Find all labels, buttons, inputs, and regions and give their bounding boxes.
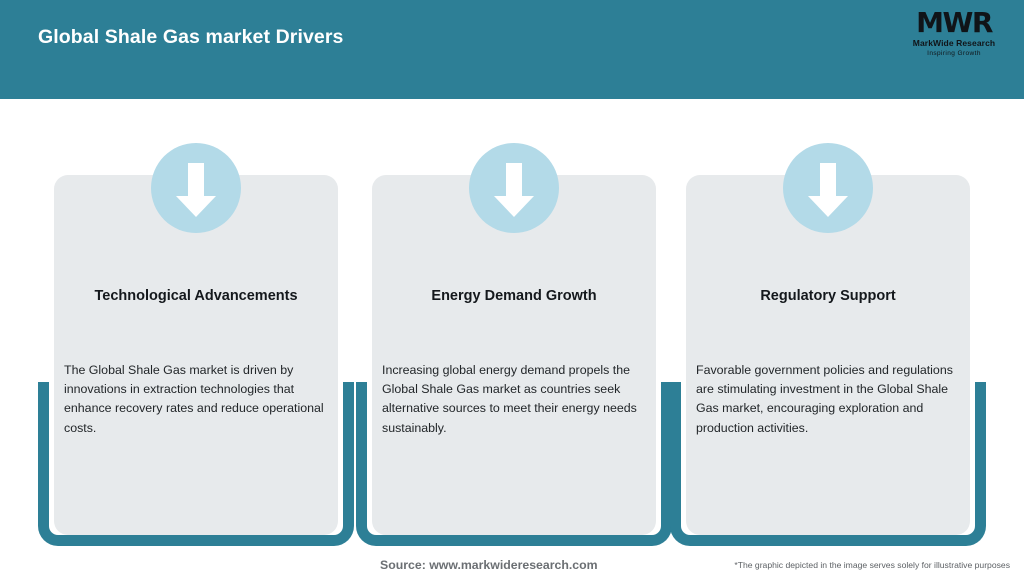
- header-band: Global Shale Gas market Drivers: [0, 0, 1024, 99]
- logo-company-name: MarkWide Research: [902, 38, 1006, 49]
- arrow-down-icon: [469, 143, 559, 233]
- slide-canvas: Global Shale Gas market Drivers MWR Mark…: [0, 0, 1024, 576]
- driver-card: Regulatory Support Favorable government …: [686, 143, 970, 543]
- logo-monogram: MWR: [902, 8, 1006, 38]
- card-title: Technological Advancements: [64, 287, 328, 305]
- driver-card: Energy Demand Growth Increasing global e…: [372, 143, 656, 543]
- card-title: Regulatory Support: [696, 287, 960, 305]
- card-body-text: The Global Shale Gas market is driven by…: [64, 361, 328, 438]
- source-label: Source: www.markwideresearch.com: [380, 558, 598, 572]
- card-body-text: Favorable government policies and regula…: [696, 361, 960, 438]
- arrow-down-icon: [151, 143, 241, 233]
- logo-tagline: Inspiring Growth: [902, 49, 1006, 58]
- card-body-text: Increasing global energy demand propels …: [382, 361, 646, 438]
- driver-card: Technological Advancements The Global Sh…: [54, 143, 338, 543]
- brand-logo: MWR MarkWide Research Inspiring Growth: [902, 8, 1006, 64]
- card-title: Energy Demand Growth: [382, 287, 646, 305]
- page-title: Global Shale Gas market Drivers: [38, 26, 344, 49]
- arrow-down-icon: [783, 143, 873, 233]
- disclaimer-note: *The graphic depicted in the image serve…: [734, 560, 1010, 570]
